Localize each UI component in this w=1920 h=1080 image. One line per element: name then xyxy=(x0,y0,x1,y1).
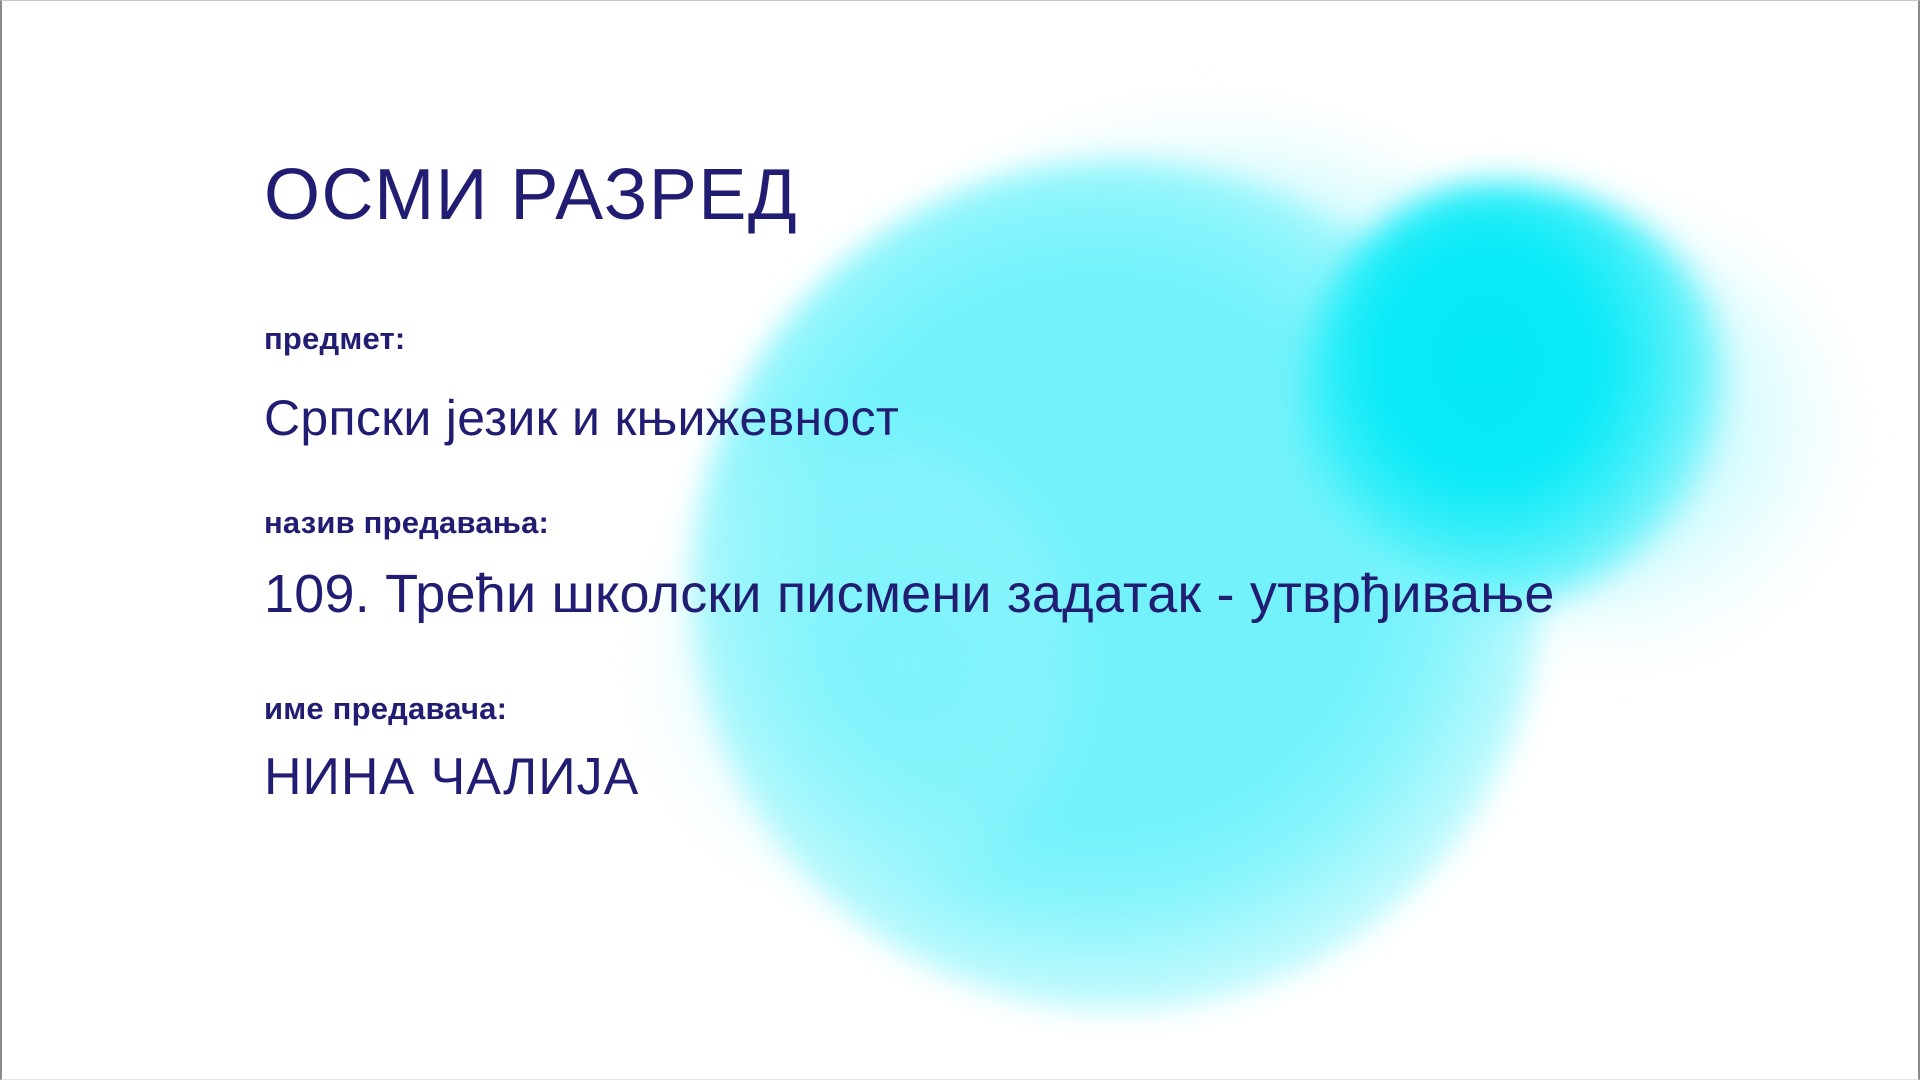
teacher-name-label: име предавача: xyxy=(264,693,507,724)
lesson-title-slide: ОСМИ РАЗРЕД предмет: Српски језик и књиж… xyxy=(0,0,1920,1080)
cyan-sphere-halo-shape xyxy=(882,111,1522,581)
subject-label: предмет: xyxy=(264,323,405,354)
cyan-sphere-feather-shape xyxy=(642,431,1072,901)
teacher-name-value: НИНА ЧАЛИЈА xyxy=(264,751,639,803)
lecture-title-label: назив предавања: xyxy=(264,507,549,538)
deep-cyan-wedge-shape xyxy=(1302,181,1722,611)
lecture-title-value: 109. Трећи школски писмени задатак - утв… xyxy=(264,567,1555,621)
subject-value: Српски језик и књижевност xyxy=(264,393,899,443)
page-title: ОСМИ РАЗРЕД xyxy=(264,159,798,231)
